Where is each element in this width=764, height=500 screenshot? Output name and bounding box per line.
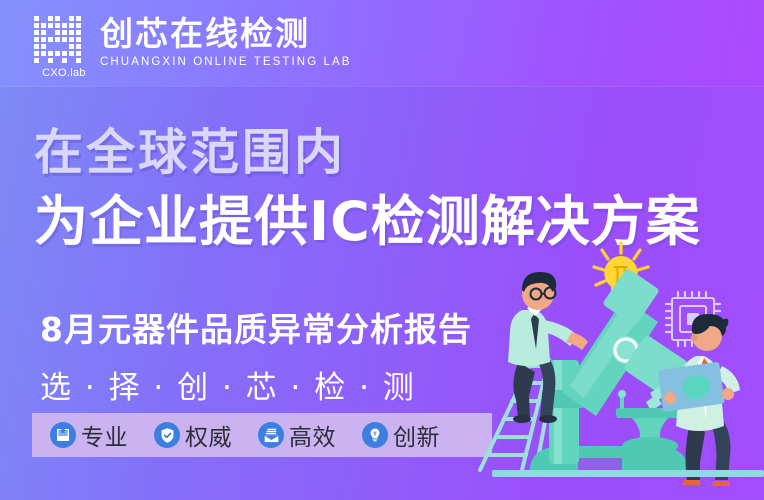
logo-sub-label: CXO.lab bbox=[32, 67, 96, 79]
mail-stack-icon bbox=[258, 422, 284, 448]
brand-name-cn: 创芯在线检测 bbox=[100, 17, 352, 52]
brand-slogan: 选 · 择 · 创 · 芯 · 检 · 测 bbox=[40, 362, 416, 407]
headline-line-1: 在全球范围内 bbox=[34, 113, 346, 184]
lab-microscope-illustration bbox=[474, 240, 764, 500]
floor-line bbox=[492, 470, 764, 477]
badge-efficient[interactable]: 高效 bbox=[258, 418, 336, 452]
header-divider bbox=[0, 86, 764, 87]
badge-label: 专业 bbox=[81, 418, 128, 452]
badge-label: 权威 bbox=[185, 418, 232, 452]
shield-check-icon bbox=[154, 422, 180, 448]
brand-name-en: CHUANGXIN ONLINE TESTING LAB bbox=[100, 56, 352, 68]
badge-innovation[interactable]: 创新 bbox=[362, 418, 440, 452]
brand-logo[interactable]: CXO.lab 创芯在线检测 CHUANGXIN ONLINE TESTING … bbox=[32, 14, 352, 68]
book-icon bbox=[50, 422, 76, 448]
badge-authoritative[interactable]: 权威 bbox=[154, 418, 232, 452]
feature-badge-bar: 专业 权威 高效 bbox=[32, 413, 492, 457]
badge-label: 创新 bbox=[393, 418, 440, 452]
badge-label: 高效 bbox=[289, 418, 336, 452]
lightbulb-icon bbox=[362, 422, 388, 448]
promo-banner: CXO.lab 创芯在线检测 CHUANGXIN ONLINE TESTING … bbox=[0, 0, 764, 500]
report-title: 8月元器件品质异常分析报告 bbox=[40, 303, 472, 351]
badge-professional[interactable]: 专业 bbox=[50, 418, 128, 452]
pixel-mosaic-logo-icon: CXO.lab bbox=[32, 14, 90, 66]
brand-text: 创芯在线检测 CHUANGXIN ONLINE TESTING LAB bbox=[100, 14, 352, 68]
